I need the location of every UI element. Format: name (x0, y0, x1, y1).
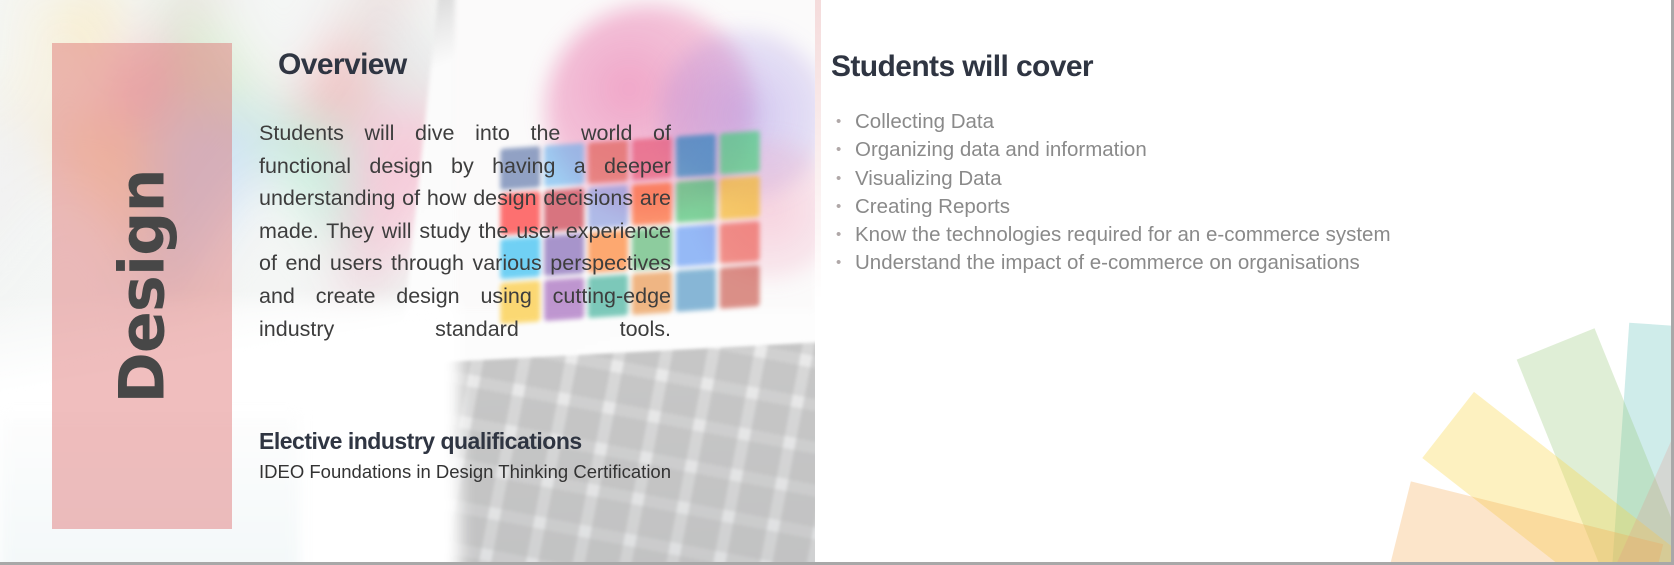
vertical-title: Design (52, 43, 232, 529)
fan-bar (1391, 481, 1664, 565)
list-item: •Collecting Data (819, 108, 1391, 136)
app-tile (720, 131, 760, 175)
list-item-label: Visualizing Data (855, 167, 1002, 190)
bullet-icon: • (836, 249, 841, 277)
list-item: •Organizing data and information (819, 136, 1391, 164)
list-item-label: Collecting Data (855, 110, 994, 133)
fan-bar (1611, 323, 1671, 565)
fan-bar (1615, 330, 1671, 565)
right-content-panel: Students will cover •Collecting Data •Or… (815, 0, 1671, 565)
vertical-title-text: Design (106, 169, 179, 403)
overview-body-text: Students will dive into the world of fun… (259, 117, 671, 378)
bullet-icon: • (836, 108, 841, 136)
left-image-panel: Design Overview Students will dive into … (0, 0, 815, 565)
list-item: •Know the technologies required for an e… (819, 221, 1391, 249)
decorative-fan (1311, 265, 1671, 565)
bullet-icon: • (836, 221, 841, 249)
list-item: •Visualizing Data (819, 165, 1391, 193)
app-tile (676, 134, 716, 178)
elective-qualifications-item: IDEO Foundations in Design Thinking Cert… (259, 461, 671, 483)
app-tile (720, 265, 760, 309)
list-item: •Understand the impact of e-commerce on … (819, 249, 1391, 277)
bullet-icon: • (836, 136, 841, 164)
app-tile (676, 268, 716, 312)
app-tile (720, 176, 760, 220)
app-tile (720, 220, 760, 264)
list-item-label: Understand the impact of e-commerce on o… (855, 251, 1360, 274)
app-tile (676, 179, 716, 223)
students-will-cover-heading: Students will cover (831, 50, 1093, 84)
list-item-label: Creating Reports (855, 195, 1010, 218)
overview-heading: Overview (278, 48, 407, 82)
app-tile (676, 224, 716, 268)
fan-bar (1422, 392, 1671, 565)
coverage-list: •Collecting Data •Organizing data and in… (819, 108, 1391, 278)
list-item: •Creating Reports (819, 193, 1391, 221)
list-item-label: Organizing data and information (855, 138, 1147, 161)
fan-bar (1517, 328, 1671, 565)
bullet-icon: • (836, 193, 841, 221)
list-item-label: Know the technologies required for an e-… (855, 223, 1391, 246)
bullet-icon: • (836, 165, 841, 193)
slide: Design Overview Students will dive into … (0, 0, 1674, 565)
elective-qualifications-heading: Elective industry qualifications (259, 428, 582, 455)
